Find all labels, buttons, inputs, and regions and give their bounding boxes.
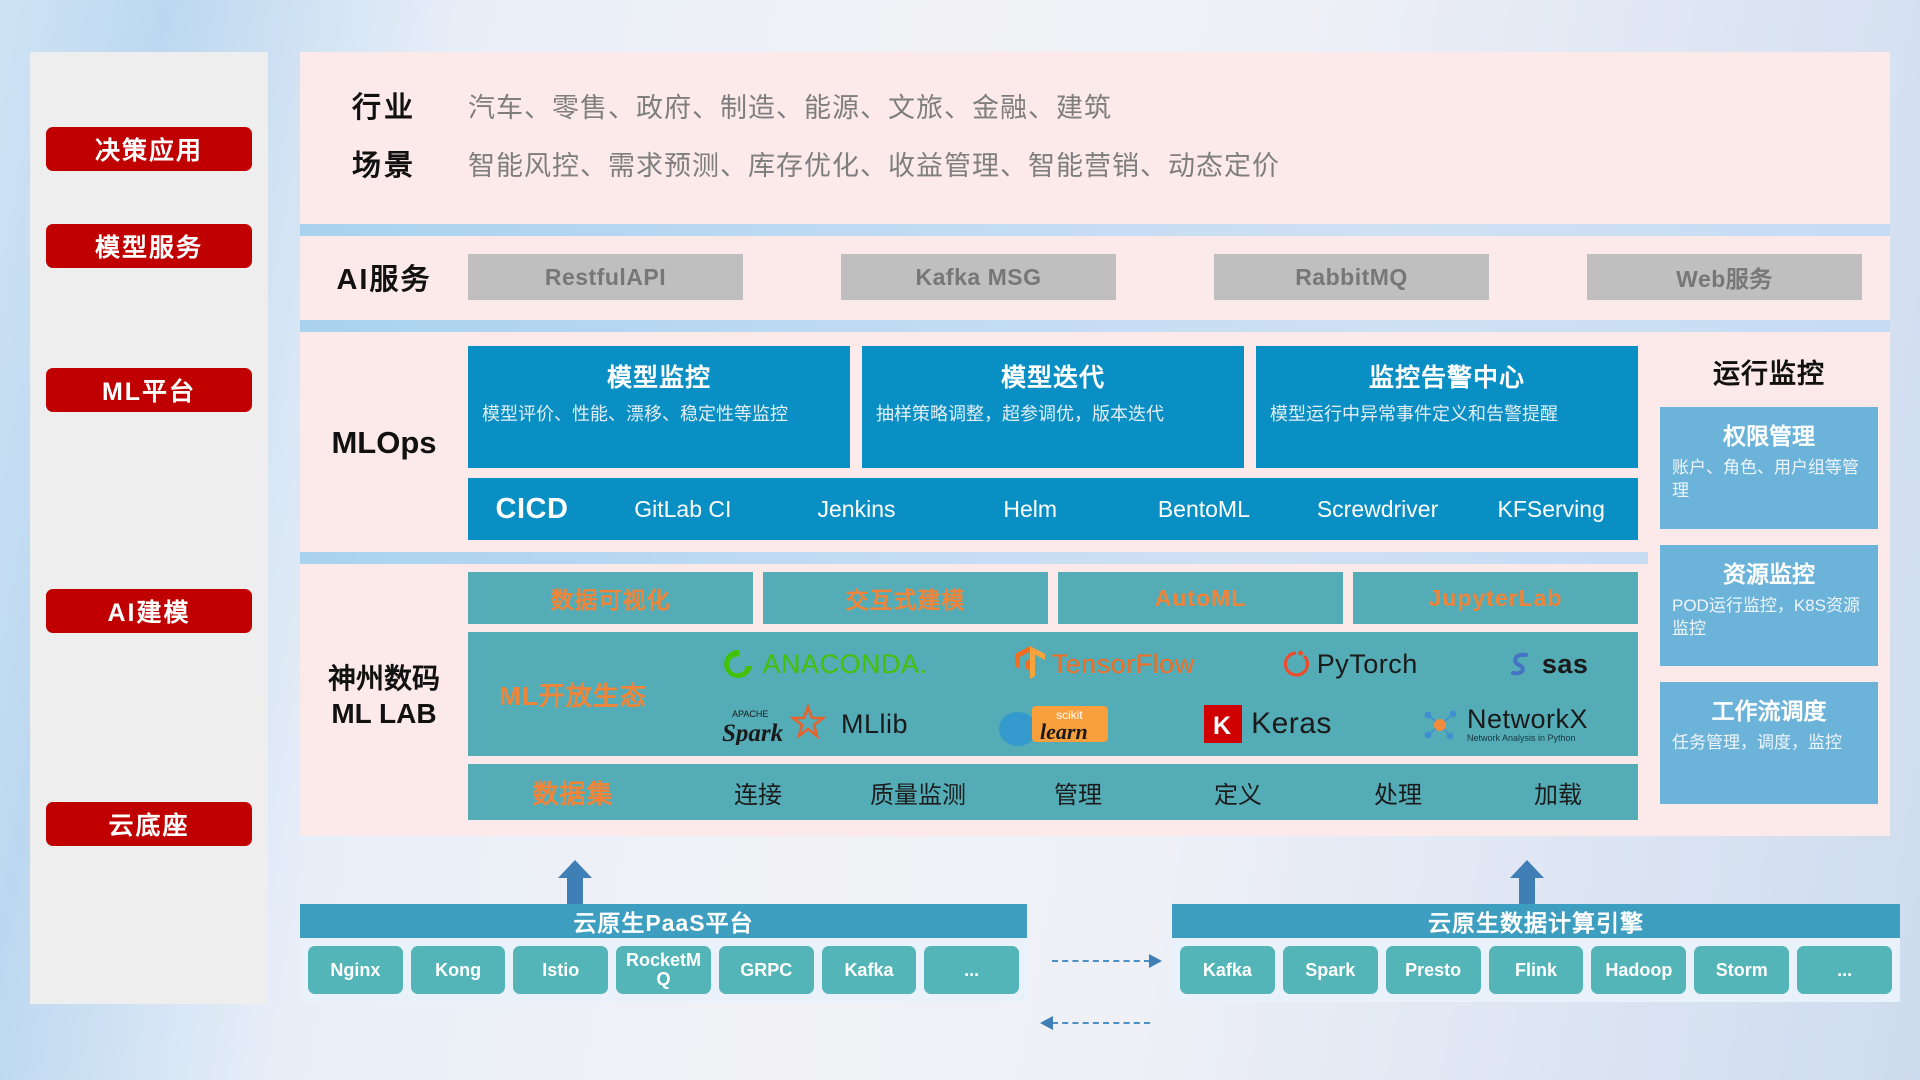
keras-logo: K Keras [1202, 703, 1332, 745]
cloud-chip-spark[interactable]: Spark [1283, 946, 1378, 994]
scenario-label: 场景 [300, 142, 468, 184]
card-title: 权限管理 [1672, 417, 1866, 451]
monitor-card-permission[interactable]: 权限管理 账户、角色、用户组等管理 [1660, 407, 1878, 529]
ml-ecosystem-label: ML开放生态 [468, 676, 678, 713]
platform-middle-area: MLOps 模型监控 模型评价、性能、漂移、稳定性等监控 模型迭代 抽样策略调整… [300, 332, 1890, 836]
card-title: 模型监控 [482, 358, 836, 394]
anaconda-wordmark: ANACONDA. [763, 649, 928, 680]
mlops-card-model-iteration[interactable]: 模型迭代 抽样策略调整，超参调优，版本迭代 [862, 346, 1244, 468]
cicd-bar: CICD GitLab CI Jenkins Helm BentoML Scre… [468, 478, 1638, 540]
mlops-content: 模型监控 模型评价、性能、漂移、稳定性等监控 模型迭代 抽样策略调整，超参调优，… [468, 346, 1648, 540]
cloud-chip-more-engine[interactable]: ... [1797, 946, 1892, 994]
pytorch-logo: PyTorch [1282, 647, 1418, 681]
cicd-item-gitlab-ci[interactable]: GitLab CI [596, 498, 770, 521]
ai-modeling-band: 神州数码 ML LAB 数据可视化 交互式建模 AutoML JupyterLa… [300, 564, 1648, 836]
tensorflow-logo: TensorFlow [1015, 646, 1195, 682]
cloud-engine-block: 云原生数据计算引擎 Kafka Spark Presto Flink Hadoo… [1172, 904, 1900, 1002]
tensorflow-icon [1015, 646, 1045, 682]
cloud-chip-storm[interactable]: Storm [1694, 946, 1789, 994]
svg-text:Spark: Spark [722, 720, 784, 745]
ml-lab-label: 神州数码 ML LAB [300, 572, 468, 820]
band-divider [300, 224, 1890, 236]
tensorflow-wordmark: TensorFlow [1052, 649, 1195, 680]
cloud-paas-title: 云原生PaaS平台 [300, 904, 1027, 938]
cloud-chip-nginx[interactable]: Nginx [308, 946, 403, 994]
card-title: 模型迭代 [876, 358, 1230, 394]
ml-ecosystem-logo-area: ANACONDA. TensorFlow [678, 635, 1638, 753]
rail-item-cloud-base[interactable]: 云底座 [46, 802, 252, 846]
ml-lab-label-line1: 神州数码 [328, 661, 440, 696]
industry-row: 行业 汽车、零售、政府、制造、能源、文旅、金融、建筑 [300, 84, 1890, 126]
cloud-chip-more[interactable]: ... [924, 946, 1019, 994]
card-desc: POD运行监控，K8S资源监控 [1672, 595, 1866, 641]
rail-item-label: 决策应用 [95, 131, 203, 167]
dataset-item-quality-monitoring[interactable]: 质量监测 [838, 775, 998, 810]
dataset-item-group: 连接 质量监测 管理 定义 处理 加载 [678, 775, 1638, 810]
cicd-item-kfserving[interactable]: KFServing [1464, 498, 1638, 521]
cloud-chip-flink[interactable]: Flink [1489, 946, 1584, 994]
ai-service-band: AI服务 RestfulAPI Kafka MSG RabbitMQ Web服务 [300, 236, 1890, 320]
card-desc: 抽样策略调整，超参调优，版本迭代 [876, 402, 1230, 426]
cicd-item-jenkins[interactable]: Jenkins [770, 498, 944, 521]
cloud-chip-kong[interactable]: Kong [411, 946, 506, 994]
monitor-card-resource[interactable]: 资源监控 POD运行监控，K8S资源监控 [1660, 545, 1878, 667]
mlops-band: MLOps 模型监控 模型评价、性能、漂移、稳定性等监控 模型迭代 抽样策略调整… [300, 332, 1648, 552]
rail-item-decision-apps[interactable]: 决策应用 [46, 127, 252, 171]
ml-lab-content: 数据可视化 交互式建模 AutoML JupyterLab ML开放生态 [468, 572, 1648, 820]
anaconda-logo: ANACONDA. [722, 647, 928, 681]
mlops-card-group: 模型监控 模型评价、性能、漂移、稳定性等监控 模型迭代 抽样策略调整，超参调优，… [468, 346, 1638, 468]
rail-item-label: AI建模 [107, 593, 190, 629]
cloud-chip-kafka[interactable]: Kafka [822, 946, 917, 994]
rail-item-label: ML平台 [102, 372, 196, 408]
cloud-chip-kafka-engine[interactable]: Kafka [1180, 946, 1275, 994]
cloud-chip-hadoop[interactable]: Hadoop [1591, 946, 1686, 994]
scikit-learn-logo: scikit learn [996, 701, 1114, 747]
decision-applications-band: 行业 汽车、零售、政府、制造、能源、文旅、金融、建筑 场景 智能风控、需求预测、… [300, 52, 1890, 224]
ml-ecosystem-row: ML开放生态 ANACONDA. [468, 632, 1638, 756]
ai-service-cell-restfulapi[interactable]: RestfulAPI [468, 254, 743, 300]
card-title: 资源监控 [1672, 555, 1866, 589]
ai-service-label: AI服务 [300, 256, 468, 298]
mllib-wordmark: MLlib [841, 709, 908, 740]
cloud-chip-istio[interactable]: Istio [513, 946, 608, 994]
rail-item-label: 模型服务 [95, 228, 203, 264]
cloud-base-area: 云原生PaaS平台 Nginx Kong Istio RocketMQ GRPC… [300, 872, 1900, 1032]
ai-service-cell-web-service[interactable]: Web服务 [1587, 254, 1862, 300]
pytorch-icon [1282, 647, 1310, 681]
dataset-item-loading[interactable]: 加载 [1478, 775, 1638, 810]
card-title: 工作流调度 [1672, 692, 1866, 726]
card-title: 监控告警中心 [1270, 358, 1624, 394]
cloud-chip-grpc[interactable]: GRPC [719, 946, 814, 994]
industry-list: 汽车、零售、政府、制造、能源、文旅、金融、建筑 [468, 86, 1112, 125]
mlops-card-model-monitoring[interactable]: 模型监控 模型评价、性能、漂移、稳定性等监控 [468, 346, 850, 468]
rail-item-model-service[interactable]: 模型服务 [46, 224, 252, 268]
mlops-label: MLOps [300, 346, 468, 540]
cloud-engine-chip-group: Kafka Spark Presto Flink Hadoop Storm ..… [1172, 938, 1900, 1002]
anaconda-icon [722, 647, 756, 681]
ai-service-cell-rabbitmq[interactable]: RabbitMQ [1214, 254, 1489, 300]
card-desc: 账户、角色、用户组等管理 [1672, 457, 1866, 503]
tool-automl[interactable]: AutoML [1058, 572, 1343, 624]
networkx-wordmark: NetworkX [1467, 706, 1588, 733]
scenario-list: 智能风控、需求预测、库存优化、收益管理、智能营销、动态定价 [468, 144, 1280, 183]
ai-service-cell-kafka-msg[interactable]: Kafka MSG [841, 254, 1116, 300]
ml-lab-tool-row: 数据可视化 交互式建模 AutoML JupyterLab [468, 572, 1638, 624]
ml-lab-label-line2: ML LAB [328, 696, 440, 731]
tool-data-visualization[interactable]: 数据可视化 [468, 572, 753, 624]
apache-spark-icon: APACHE Spark [722, 703, 834, 745]
scikit-learn-icon: scikit learn [996, 701, 1114, 747]
cloud-paas-chip-group: Nginx Kong Istio RocketMQ GRPC Kafka ... [300, 938, 1027, 1002]
cloud-chip-presto[interactable]: Presto [1386, 946, 1481, 994]
keras-icon: K [1202, 703, 1244, 745]
runtime-monitoring-title: 运行监控 [1660, 352, 1878, 391]
card-desc: 任务管理，调度，监控 [1672, 732, 1866, 755]
stack-layer-rail: 决策应用 模型服务 ML平台 AI建模 云底座 [30, 52, 268, 1004]
monitor-card-workflow[interactable]: 工作流调度 任务管理，调度，监控 [1660, 682, 1878, 804]
tool-jupyterlab[interactable]: JupyterLab [1353, 572, 1638, 624]
rail-item-ai-modeling[interactable]: AI建模 [46, 589, 252, 633]
spark-mllib-logo: APACHE Spark MLlib [722, 703, 908, 745]
sas-logo: sas [1505, 649, 1589, 680]
cloud-chip-rocketmq[interactable]: RocketMQ [616, 946, 711, 994]
sas-icon [1505, 649, 1535, 679]
networkx-tagline: Network Analysis in Python [1467, 733, 1588, 743]
ml-ecosystem-logo-row-1: ANACONDA. TensorFlow [678, 635, 1632, 693]
dataset-item-management[interactable]: 管理 [998, 775, 1158, 810]
cicd-item-helm[interactable]: Helm [943, 498, 1117, 521]
paas-up-arrow-icon [558, 860, 592, 904]
mlops-card-alert-center[interactable]: 监控告警中心 模型运行中异常事件定义和告警提醒 [1256, 346, 1638, 468]
pytorch-wordmark: PyTorch [1317, 649, 1418, 680]
cloud-engine-title: 云原生数据计算引擎 [1172, 904, 1900, 938]
dataset-label: 数据集 [468, 774, 678, 811]
ml-ecosystem-logo-row-2: APACHE Spark MLlib [678, 695, 1632, 753]
dataset-row: 数据集 连接 质量监测 管理 定义 处理 加载 [468, 764, 1638, 820]
card-desc: 模型运行中异常事件定义和告警提醒 [1270, 402, 1624, 426]
rail-item-label: 云底座 [108, 806, 189, 842]
band-divider [300, 552, 1648, 564]
tool-interactive-modeling[interactable]: 交互式建模 [763, 572, 1048, 624]
networkx-logo: NetworkX Network Analysis in Python [1420, 705, 1588, 743]
industry-label: 行业 [300, 84, 468, 126]
card-desc: 模型评价、性能、漂移、稳定性等监控 [482, 402, 836, 426]
cloud-paas-block: 云原生PaaS平台 Nginx Kong Istio RocketMQ GRPC… [300, 904, 1027, 1002]
svg-text:APACHE: APACHE [732, 709, 768, 719]
svg-text:learn: learn [1040, 719, 1088, 744]
svg-text:K: K [1213, 712, 1231, 740]
ai-service-cell-group: RestfulAPI Kafka MSG RabbitMQ Web服务 [468, 254, 1890, 300]
cicd-item-screwdriver[interactable]: Screwdriver [1291, 498, 1465, 521]
cicd-label: CICD [468, 493, 596, 526]
cicd-item-bentoml[interactable]: BentoML [1117, 498, 1291, 521]
platform-left-stack: MLOps 模型监控 模型评价、性能、漂移、稳定性等监控 模型迭代 抽样策略调整… [300, 332, 1648, 836]
architecture-main-column: 行业 汽车、零售、政府、制造、能源、文旅、金融、建筑 场景 智能风控、需求预测、… [300, 52, 1890, 836]
flow-arrow-left-icon [1040, 1022, 1150, 1024]
dataset-item-definition[interactable]: 定义 [1158, 775, 1318, 810]
dataset-item-connect[interactable]: 连接 [678, 775, 838, 810]
networkx-icon [1420, 705, 1460, 743]
band-divider [300, 320, 1890, 332]
sas-wordmark: sas [1542, 649, 1589, 680]
keras-wordmark: Keras [1251, 707, 1332, 741]
scenario-row: 场景 智能风控、需求预测、库存优化、收益管理、智能营销、动态定价 [300, 142, 1890, 184]
rail-item-ml-platform[interactable]: ML平台 [46, 368, 252, 412]
dataset-item-processing[interactable]: 处理 [1318, 775, 1478, 810]
flow-arrow-right-icon [1052, 960, 1162, 962]
cicd-item-group: GitLab CI Jenkins Helm BentoML Screwdriv… [596, 498, 1638, 521]
engine-up-arrow-icon [1510, 860, 1544, 904]
runtime-monitoring-column: 运行监控 权限管理 账户、角色、用户组等管理 资源监控 POD运行监控，K8S资… [1648, 332, 1890, 836]
